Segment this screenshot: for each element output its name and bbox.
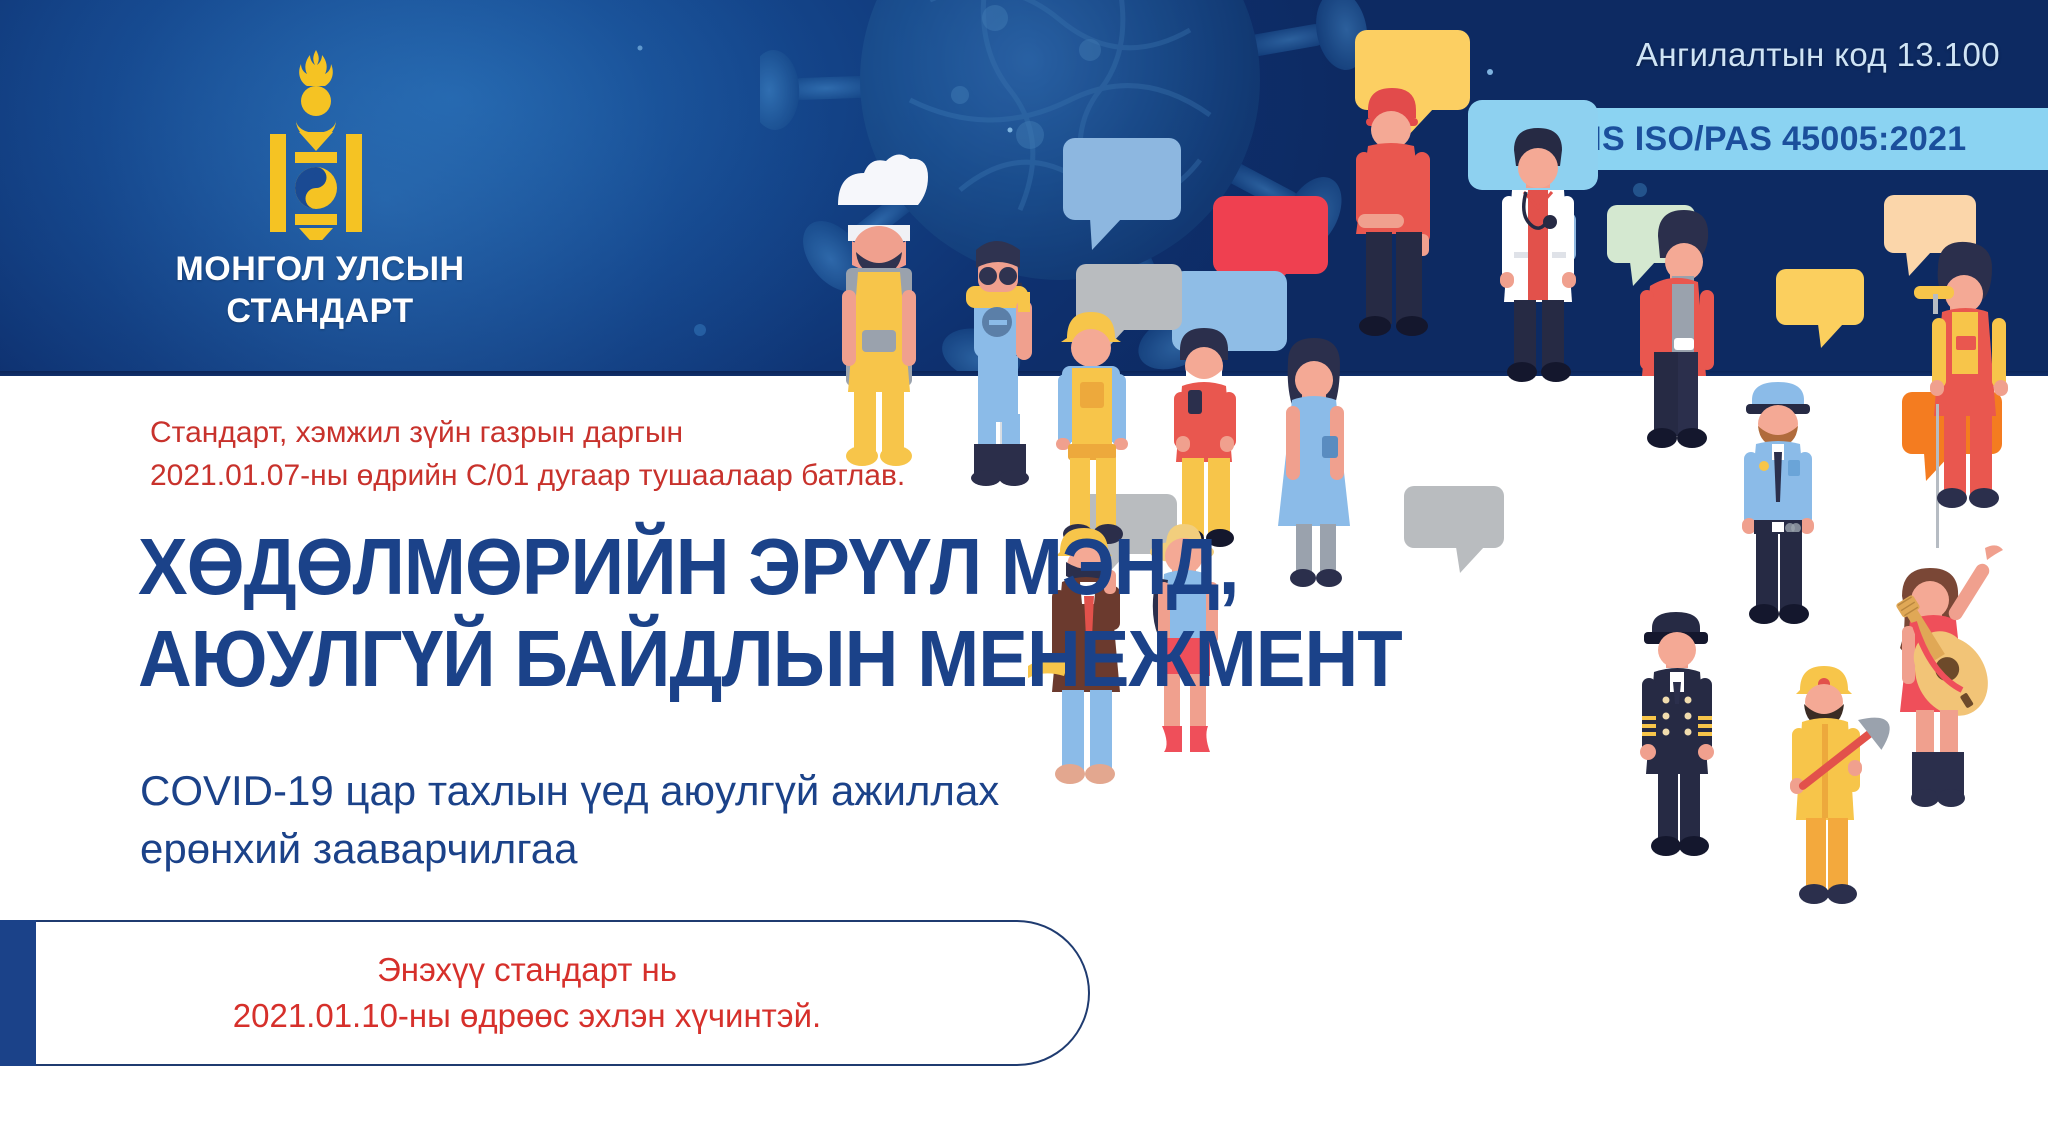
subtitle-line-1: COVID-19 цар тахлын үед аюулгүй ажиллах: [140, 762, 1200, 820]
standard-number-badge: MNS ISO/PAS 45005:2021: [1485, 108, 2048, 170]
title-line-2: АЮУЛГҮЙ БАЙДЛЫН МЕНЕЖМЕНТ: [138, 620, 1161, 698]
figure-guitarist: [1875, 545, 2003, 807]
approval-line-1: Стандарт, хэмжил зүйн газрын даргын: [150, 412, 1090, 455]
approval-note: Стандарт, хэмжил зүйн газрын даргын 2021…: [150, 412, 1090, 497]
subtitle-line-2: ерөнхий зааварчилгаа: [140, 820, 1200, 878]
classification-code: Ангилалтын код 13.100: [1636, 36, 2000, 74]
approval-line-2: 2021.01.07-ны өдрийн С/01 дугаар тушаала…: [150, 455, 1090, 498]
header-band: МОНГОЛ УЛСЫН СТАНДАРТ Ангилалтын код 13.…: [0, 0, 2048, 376]
validity-pill-box: Энэхүү стандарт нь 2021.01.10-ны өдрөөс …: [36, 920, 1090, 1066]
validity-line-1: Энэхүү стандарт нь: [377, 947, 677, 993]
brand-line-1: МОНГОЛ УЛСЫН: [60, 248, 580, 290]
bubble-orange: [1902, 392, 2002, 481]
page-subtitle: COVID-19 цар тахлын үед аюулгүй ажиллах …: [140, 762, 1200, 878]
figure-pilot: [1640, 612, 1714, 856]
standard-cover-poster: МОНГОЛ УЛСЫН СТАНДАРТ Ангилалтын код 13.…: [0, 0, 2048, 1138]
figure-firefighter: [1789, 666, 1899, 904]
soyombo-emblem: [255, 48, 377, 240]
validity-pill-tab: [0, 920, 36, 1066]
page-title: ХӨДӨЛМӨРИЙН ЭРҮҮЛ МЭНД, АЮУЛГҮЙ БАЙДЛЫН …: [138, 528, 1161, 699]
figure-police-officer: [1742, 382, 1814, 624]
brand-name: МОНГОЛ УЛСЫН СТАНДАРТ: [60, 248, 580, 332]
title-line-1: ХӨДӨЛМӨРИЙН ЭРҮҮЛ МЭНД,: [138, 528, 1161, 606]
validity-pill: Энэхүү стандарт нь 2021.01.10-ны өдрөөс …: [0, 920, 1100, 1066]
band-bottom-rule: [0, 371, 2048, 376]
brand-line-2: СТАНДАРТ: [60, 290, 580, 332]
bubble-grey-right: [1404, 486, 1504, 573]
validity-line-2: 2021.01.10-ны өдрөөс эхлэн хүчинтэй.: [233, 993, 821, 1039]
